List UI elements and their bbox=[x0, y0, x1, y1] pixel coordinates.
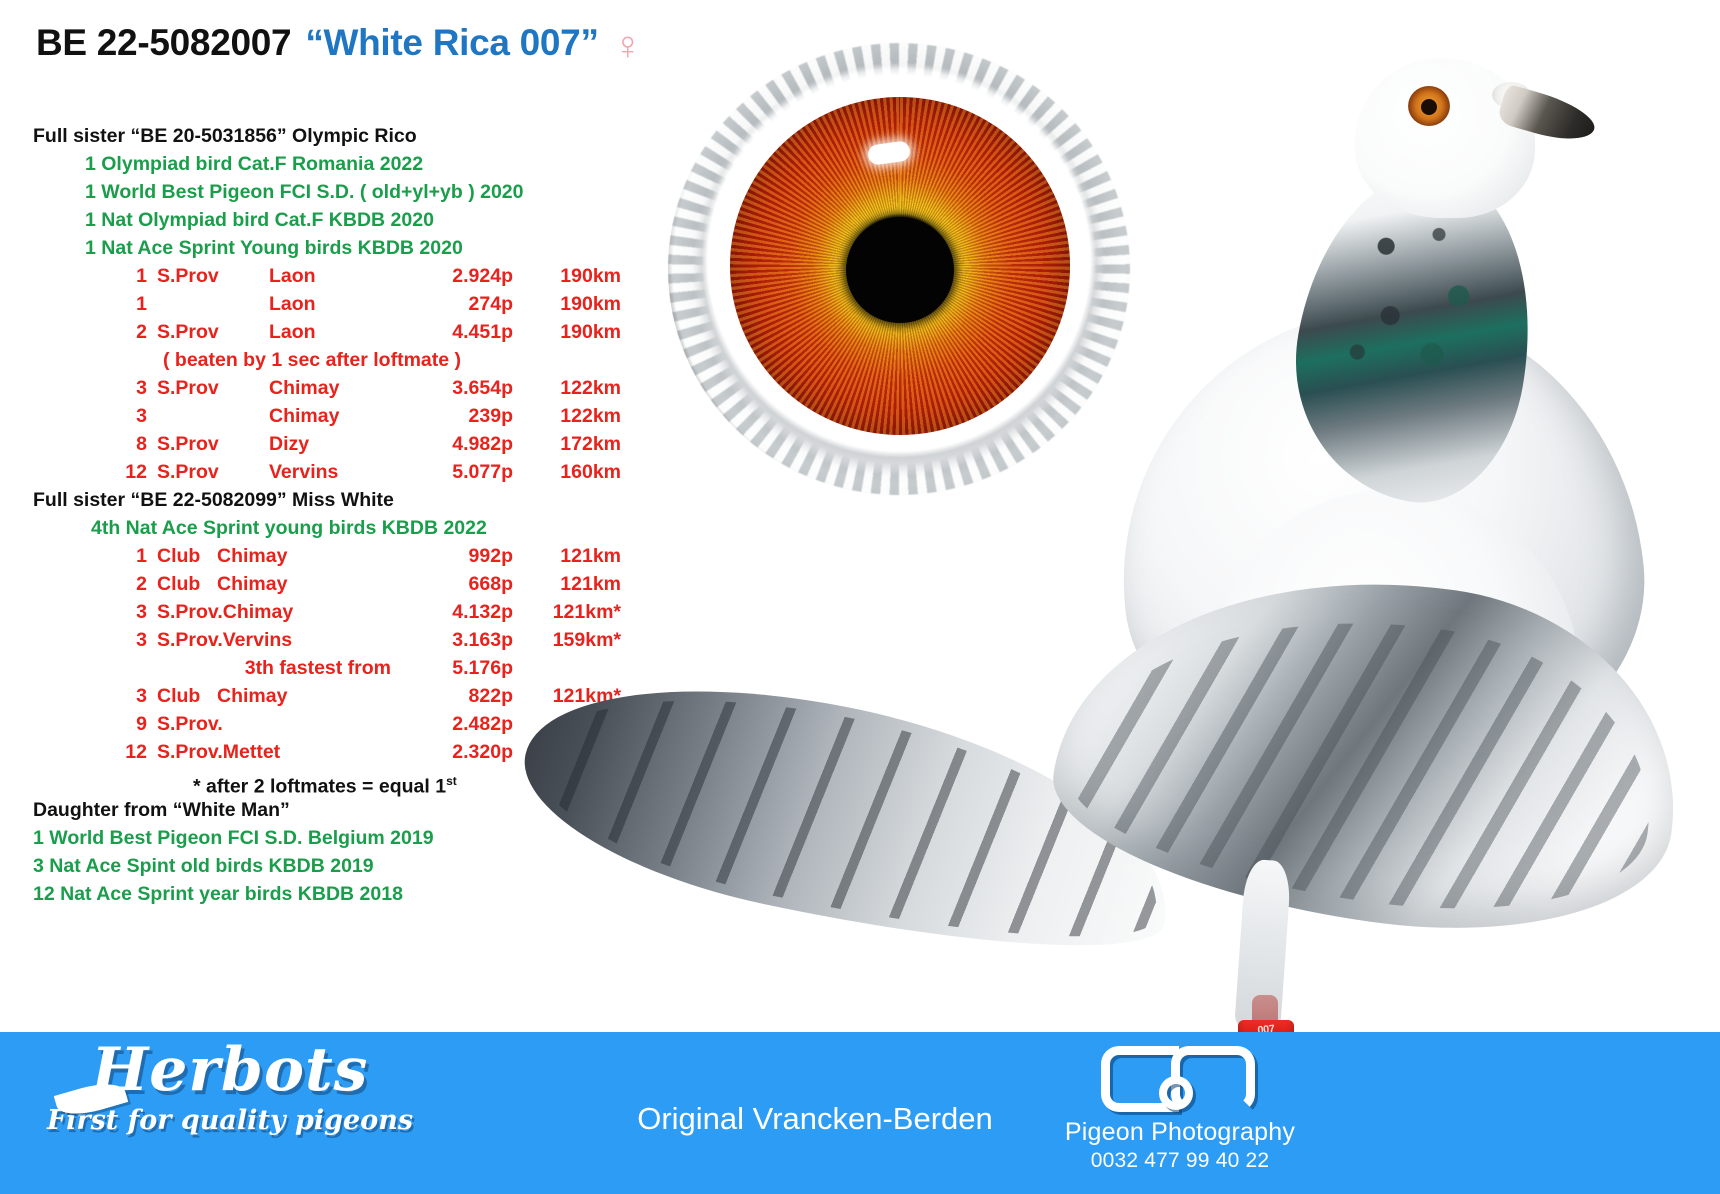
result-race: Chimay bbox=[217, 682, 405, 710]
result-position: 3 bbox=[93, 402, 157, 430]
result-level: S.Prov.Mettet bbox=[157, 738, 405, 766]
pigeon-eye-pupil bbox=[1421, 99, 1437, 115]
result-race: Vervins bbox=[269, 458, 405, 486]
herbots-logo: Herbots First for quality pigeons bbox=[40, 1040, 420, 1138]
result-position: 12 bbox=[93, 458, 157, 486]
result-level: S.Prov.Chimay bbox=[157, 598, 405, 626]
result-position: 3 bbox=[93, 598, 157, 626]
result-level: S.Prov bbox=[157, 374, 269, 402]
result-level: Club bbox=[157, 570, 217, 598]
loftmate-footnote-text: * after 2 loftmates = equal 1 bbox=[193, 776, 446, 798]
loftmate-footnote-ordinal: st bbox=[446, 774, 457, 788]
result-race: Chimay bbox=[269, 374, 405, 402]
result-position: 2 bbox=[93, 570, 157, 598]
result-race: Laon bbox=[269, 318, 405, 346]
result-position: 1 bbox=[93, 262, 157, 290]
result-race: Chimay bbox=[217, 570, 405, 598]
photographer-phone: 0032 477 99 40 22 bbox=[1055, 1149, 1305, 1173]
result-position: 8 bbox=[93, 430, 157, 458]
result-position: 2 bbox=[93, 318, 157, 346]
result-level: Club bbox=[157, 542, 217, 570]
result-position: 1 bbox=[93, 542, 157, 570]
footer-banner: Herbots First for quality pigeons Origin… bbox=[0, 1032, 1720, 1194]
result-race: Laon bbox=[269, 290, 405, 318]
cs-monogram-icon bbox=[1095, 1042, 1265, 1116]
origin-caption: Original Vrancken-Berden bbox=[637, 1101, 993, 1137]
result-race: Chimay bbox=[269, 402, 405, 430]
pigeon-photo: 007 bbox=[500, 20, 1715, 1170]
result-level: S.Prov. bbox=[157, 710, 405, 738]
result-level: S.Prov bbox=[157, 318, 269, 346]
result-position: 1 bbox=[93, 290, 157, 318]
result-level: S.Prov bbox=[157, 262, 269, 290]
result-position: 12 bbox=[93, 738, 157, 766]
ring-number: BE 22-5082007 bbox=[36, 22, 291, 64]
photographer-logo: Pigeon Photography 0032 477 99 40 22 bbox=[1055, 1042, 1305, 1173]
result-level bbox=[157, 402, 269, 430]
result-level: S.Prov bbox=[157, 458, 269, 486]
fastest-label: 3th fastest from bbox=[93, 654, 405, 682]
cs-lens-icon bbox=[1159, 1076, 1193, 1110]
result-position: 3 bbox=[93, 626, 157, 654]
result-position: 9 bbox=[93, 710, 157, 738]
result-level: S.Prov bbox=[157, 430, 269, 458]
result-race: Chimay bbox=[217, 542, 405, 570]
result-level bbox=[157, 290, 269, 318]
result-level: Club bbox=[157, 682, 217, 710]
result-race: Laon bbox=[269, 262, 405, 290]
result-position: 3 bbox=[93, 682, 157, 710]
photographer-name: Pigeon Photography bbox=[1055, 1118, 1305, 1147]
result-race: Dizy bbox=[269, 430, 405, 458]
result-position: 3 bbox=[93, 374, 157, 402]
result-level: S.Prov.Vervins bbox=[157, 626, 405, 654]
pedigree-card: BE 22-5082007 “White Rica 007” ♀ Full si… bbox=[0, 0, 1720, 1194]
